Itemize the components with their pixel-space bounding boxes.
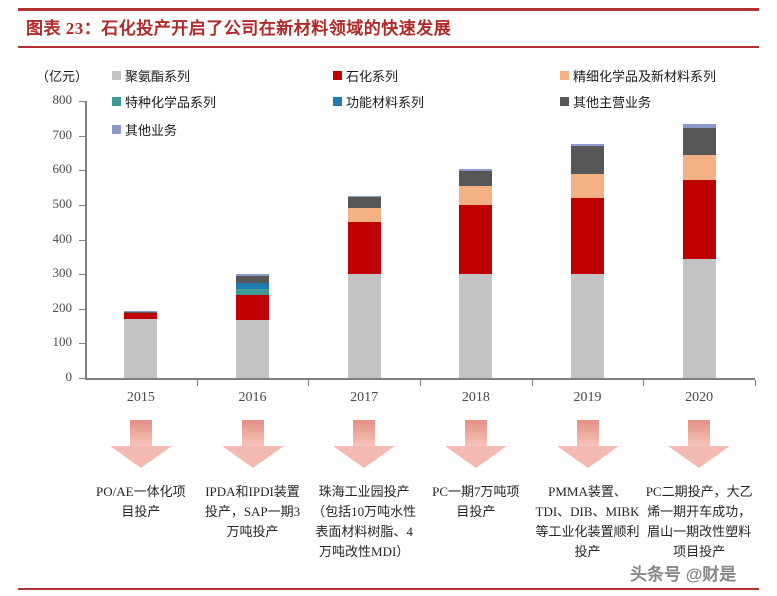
bar-segment[interactable] (236, 320, 269, 378)
arrow-head (668, 446, 730, 468)
legend-item[interactable]: 石化系列 (333, 66, 398, 85)
bar-segment[interactable] (124, 313, 157, 319)
arrow-shaft (465, 420, 487, 446)
annotation-caption: PC一期7万吨项目投产 (428, 482, 524, 522)
x-tick-label: 2015 (101, 390, 181, 406)
bar-segment[interactable] (571, 274, 604, 378)
bar-segment[interactable] (348, 222, 381, 274)
arrow-head (222, 446, 284, 468)
bar-stack[interactable] (683, 101, 716, 378)
bar-segment[interactable] (348, 197, 381, 208)
arrow-down-icon (668, 420, 730, 468)
arrow-down-icon (557, 420, 619, 468)
annotation-caption: PMMA装置、TDI、DIB、MIBK等工业化装置顺利投产 (536, 482, 640, 563)
y-tick-mark (79, 378, 86, 379)
bar-stack[interactable] (348, 101, 381, 378)
legend-item[interactable]: 聚氨酯系列 (112, 66, 190, 85)
x-tick-mark (532, 380, 533, 386)
x-tick-mark (643, 380, 644, 386)
bar-segment[interactable] (459, 186, 492, 205)
y-axis-unit-label: （亿元） (36, 66, 88, 85)
x-tick-mark (308, 380, 309, 386)
legend-item[interactable]: 精细化学品及新材料系列 (560, 66, 716, 85)
bar-segment[interactable] (683, 124, 716, 128)
bar-segment[interactable] (683, 180, 716, 259)
bar-segment[interactable] (236, 276, 269, 284)
bar-segment[interactable] (683, 128, 716, 155)
annotation-caption: PO/AE一体化项目投产 (91, 482, 191, 522)
bar-segment[interactable] (236, 274, 269, 276)
x-tick-label: 2017 (324, 390, 404, 406)
arrow-shaft (688, 420, 710, 446)
legend-swatch-icon (112, 71, 121, 80)
bar-segment[interactable] (571, 144, 604, 146)
x-tick-label: 2018 (436, 390, 516, 406)
arrow-shaft (242, 420, 264, 446)
bar-stack[interactable] (459, 101, 492, 378)
y-tick-label: 300 (14, 265, 72, 281)
bar-segment[interactable] (459, 171, 492, 186)
y-tick-label: 0 (14, 369, 72, 385)
bar-stack[interactable] (236, 101, 269, 378)
legend-label: 石化系列 (346, 66, 398, 85)
x-tick-label: 2016 (213, 390, 293, 406)
page-title: 图表 23：石化投产开启了公司在新材料领域的快速发展 (26, 14, 451, 39)
arrow-head (557, 446, 619, 468)
arrow-head (445, 446, 507, 468)
y-tick-label: 800 (14, 92, 72, 108)
x-tick-label: 2019 (548, 390, 628, 406)
bar-segment[interactable] (236, 289, 269, 295)
legend-swatch-icon (333, 71, 342, 80)
y-tick-label: 200 (14, 300, 72, 316)
bar-segment[interactable] (683, 155, 716, 180)
x-tick-label: 2020 (659, 390, 739, 406)
bar-segment[interactable] (571, 146, 604, 174)
x-tick-mark (755, 380, 756, 386)
annotation-caption: PC二期投产，大乙烯一期开车成功，眉山一期改性塑料项目投产 (644, 482, 754, 563)
legend-swatch-icon (560, 71, 569, 80)
arrow-head (110, 446, 172, 468)
bar-segment[interactable] (124, 319, 157, 378)
arrow-shaft (130, 420, 152, 446)
bar-segment[interactable] (348, 274, 381, 378)
arrow-head (333, 446, 395, 468)
x-tick-mark (197, 380, 198, 386)
arrow-shaft (577, 420, 599, 446)
bar-segment[interactable] (459, 169, 492, 171)
footer-rule (18, 588, 759, 590)
bar-segment[interactable] (124, 311, 157, 312)
bar-segment[interactable] (348, 196, 381, 198)
watermark: 头条号 @财是 (630, 560, 736, 585)
bar-stack[interactable] (571, 101, 604, 378)
bar-segment[interactable] (124, 312, 157, 313)
arrow-down-icon (445, 420, 507, 468)
arrow-shaft (353, 420, 375, 446)
y-tick-label: 100 (14, 334, 72, 350)
bar-stack[interactable] (124, 101, 157, 378)
legend-label: 精细化学品及新材料系列 (573, 66, 716, 85)
bar-segment[interactable] (683, 259, 716, 378)
y-tick-label: 500 (14, 196, 72, 212)
chart-plot-area (85, 101, 755, 378)
y-tick-label: 400 (14, 231, 72, 247)
bar-segment[interactable] (571, 198, 604, 274)
annotation-caption: 珠海工业园投产（包括10万吨水性表面材料树脂、4万吨改性MDI） (310, 482, 418, 563)
x-tick-mark (420, 380, 421, 386)
legend-label: 聚氨酯系列 (125, 66, 190, 85)
bar-segment[interactable] (571, 174, 604, 198)
bar-segment[interactable] (459, 274, 492, 378)
bar-segment[interactable] (236, 283, 269, 288)
bar-segment[interactable] (459, 205, 492, 274)
y-tick-label: 600 (14, 161, 72, 177)
annotation-caption: IPDA和IPDI装置投产，SAP一期3万吨投产 (205, 482, 301, 542)
bar-segment[interactable] (236, 295, 269, 320)
arrow-down-icon (222, 420, 284, 468)
y-tick-label: 700 (14, 127, 72, 143)
arrow-down-icon (333, 420, 395, 468)
bar-segment[interactable] (348, 208, 381, 222)
arrow-down-icon (110, 420, 172, 468)
